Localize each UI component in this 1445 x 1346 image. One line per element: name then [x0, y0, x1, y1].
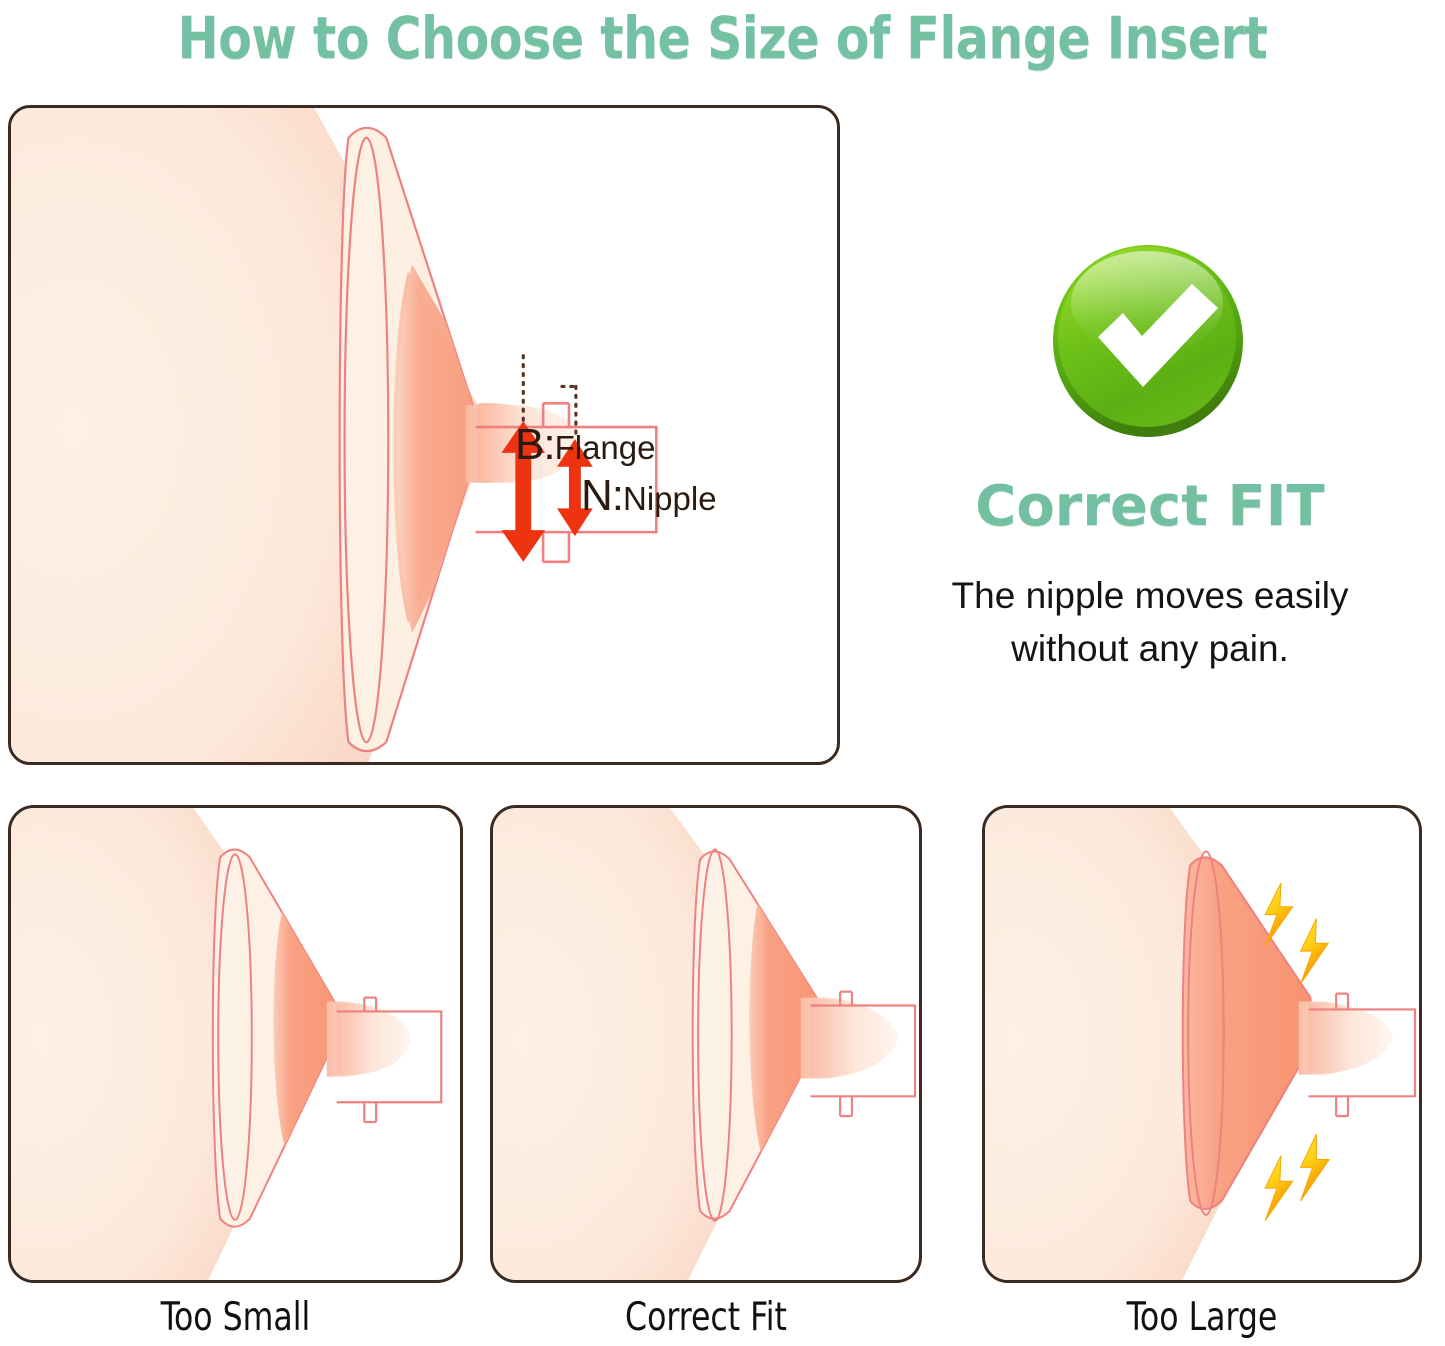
main-measurement-panel: B:Flange N:Nipple: [8, 105, 840, 765]
flange-cone: [340, 118, 486, 752]
correct-fit-heading: Correct FIT: [900, 475, 1400, 537]
correct-fit-diagram: [493, 808, 919, 1280]
description-line-1: The nipple moves easily: [890, 570, 1410, 623]
flange-label-text: Flange: [555, 429, 656, 466]
caption-too-small: Too Small: [31, 1292, 441, 1342]
panel-correct-fit: [490, 805, 922, 1283]
nipple-label-text: Nipple: [623, 480, 717, 517]
page-title: How to Choose the Size of Flange Insert: [43, 2, 1401, 74]
correct-fit-description: The nipple moves easily without any pain…: [890, 570, 1410, 675]
caption-correct-fit: Correct Fit: [512, 1292, 901, 1342]
main-diagram-svg: [11, 108, 837, 762]
panel-too-large: [982, 805, 1422, 1283]
green-check-badge: [1048, 237, 1248, 442]
flange-label: B:Flange: [515, 420, 655, 470]
flange-label-key: B:: [515, 420, 555, 469]
description-line-2: without any pain.: [890, 623, 1410, 676]
check-icon: [1048, 237, 1248, 442]
panel-too-small: [8, 805, 463, 1283]
too-small-diagram: [11, 808, 460, 1280]
nipple-label: N:Nipple: [581, 471, 717, 521]
nipple-label-key: N:: [581, 471, 623, 520]
caption-too-large: Too Large: [1004, 1292, 1400, 1342]
too-large-diagram: [985, 808, 1419, 1280]
